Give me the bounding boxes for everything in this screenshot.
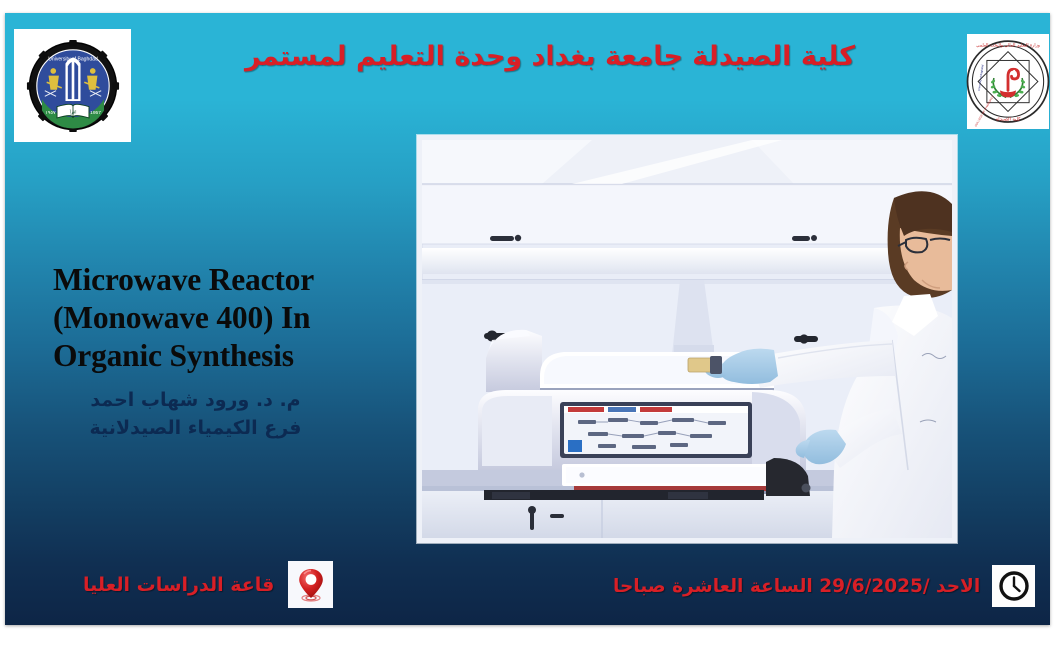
university-of-baghdad-logo-box: University of Baghdad ١٩٥٧ 1957 اقرأ <box>14 29 131 142</box>
talk-title-line-1: Microwave Reactor <box>53 261 383 299</box>
clock-icon-box <box>992 565 1035 607</box>
header-title: كلية الصيدلة جامعة بغداد وحدة التعليم لم… <box>155 41 945 72</box>
venue-row: قاعة الدراسات العليا <box>83 561 333 608</box>
presentation-slide: University of Baghdad ١٩٥٧ 1957 اقرأ <box>5 13 1050 625</box>
talk-title-line-2: (Monowave 400) In <box>53 299 383 337</box>
cop-arc-text-bottom: كلية الصيدلة <box>996 116 1022 122</box>
speaker-department: فرع الكيمياء الصيدلانية <box>53 417 338 439</box>
college-of-pharmacy-logo-box: وزارة التعليم العالي والبحث العلمي كلية … <box>967 34 1049 129</box>
speaker-name: م. د. ورود شهاب احمد <box>53 389 338 411</box>
microwave-reactor-lab-photo <box>417 135 957 543</box>
location-pin-icon-box <box>288 561 333 608</box>
location-pin-icon <box>296 567 326 603</box>
college-of-pharmacy-logo: وزارة التعليم العالي والبحث العلمي كلية … <box>964 34 1050 129</box>
uob-ring-text: University of Baghdad <box>48 56 98 62</box>
lab-photo-illustration <box>422 140 952 538</box>
uob-year-arabic: ١٩٥٧ <box>45 110 56 116</box>
uob-year-latin: 1957 <box>90 110 101 116</box>
university-of-baghdad-logo: University of Baghdad ١٩٥٧ 1957 اقرأ <box>26 39 120 133</box>
clock-icon <box>998 570 1030 602</box>
cop-arc-text-top: وزارة التعليم العالي والبحث العلمي <box>976 43 1040 48</box>
venue-text: قاعة الدراسات العليا <box>83 574 274 596</box>
talk-title-line-3: Organic Synthesis <box>53 337 383 375</box>
talk-title: Microwave Reactor (Monowave 400) In Orga… <box>53 261 383 375</box>
time-text: الاحد /29/6/2025 الساعة العاشرة صباحا <box>613 576 980 597</box>
time-row: الاحد /29/6/2025 الساعة العاشرة صباحا <box>613 565 1035 607</box>
